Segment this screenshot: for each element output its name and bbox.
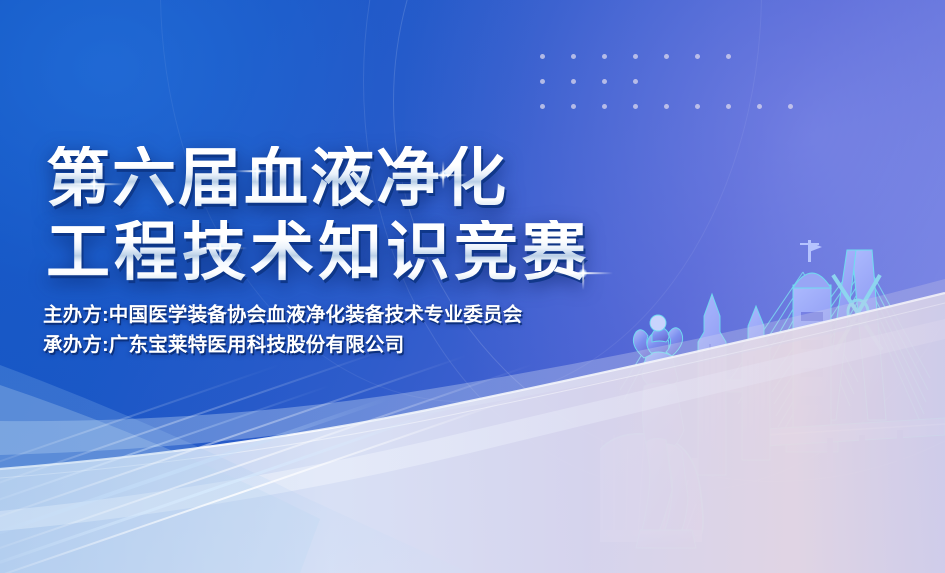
dot-grid-row <box>540 104 819 129</box>
poster-title: 第六届血液净化 工程技术知识竞赛 <box>46 146 590 284</box>
dot-grid-row <box>540 79 819 104</box>
title-line-2: 工程技术知识竞赛 <box>46 220 590 284</box>
host-line: 承办方:广东宝莱特医用科技股份有限公司 <box>43 330 523 360</box>
dot-grid-pattern <box>540 54 819 129</box>
organizer-line: 主办方:中国医学装备协会血液净化装备技术专业委员会 <box>43 300 523 330</box>
event-poster: 第六届血液净化 工程技术知识竞赛 主办方:中国医学装备协会血液净化装备技术专业委… <box>0 0 945 573</box>
dot-grid-row <box>540 54 819 79</box>
poster-subtitle: 主办方:中国医学装备协会血液净化装备技术专业委员会 承办方:广东宝莱特医用科技股… <box>43 300 523 360</box>
title-line-1: 第六届血液净化 <box>46 146 590 210</box>
